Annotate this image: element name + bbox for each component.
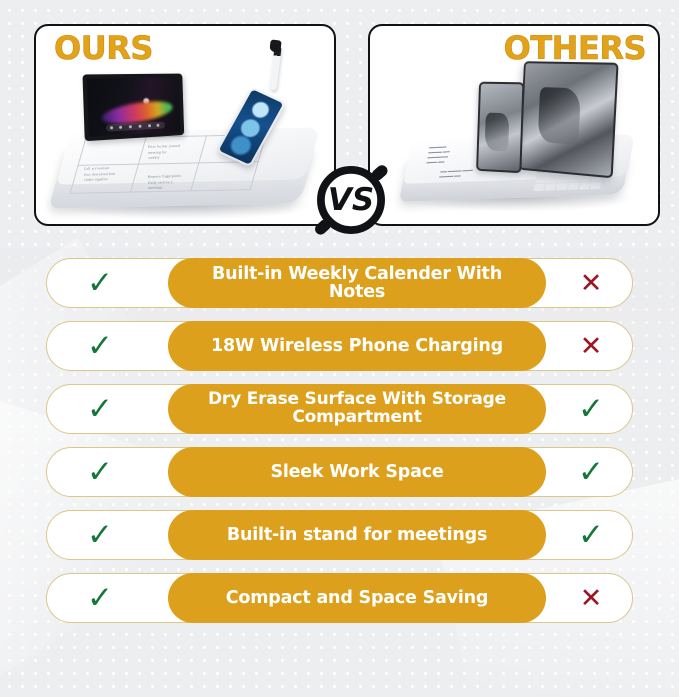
feature-row: ✓Dry Erase Surface With Storage Compartm… [0,384,679,434]
panel-others: OTHERS ▬▬▬▬▬ ▬▬▬▬ ▬▬ ▬▬▬▬▬▬ ▬▬▬ ▬▬ ▬▬ ▬▬… [368,24,660,226]
feature-row: ✓Sleek Work Space✓ [0,447,679,497]
feature-pill: Sleek Work Space [168,447,546,497]
feature-row: ✓Compact and Space Saving✕ [0,573,679,623]
feature-label: Sleek Work Space [270,463,443,481]
ours-check-icon: ✓ [70,447,130,497]
others-check-icon: ✓ [561,384,621,434]
ours-check-icon: ✓ [70,258,130,308]
vs-badge: VS [308,157,394,243]
feature-row: ✓18W Wireless Phone Charging✕ [0,321,679,371]
feature-label: Built-in stand for meetings [227,526,487,544]
ours-check-icon: ✓ [70,321,130,371]
feature-row: ✓Built-in stand for meetings✓ [0,510,679,560]
others-check-icon: ✓ [561,510,621,560]
ours-note-block-1: Call accountant Sort download font Order… [84,165,133,183]
feature-pill: 18W Wireless Phone Charging [168,321,546,371]
feature-pill: Built-in Weekly Calender With Notes [168,258,546,308]
panel-ours-title: OURS [54,32,153,64]
feature-pill: Built-in stand for meetings [168,510,546,560]
comparison-panels: OURS Call accountant Sort download font … [0,0,679,248]
ours-note-block-3: Remove fingerprints Daily section 2 meet… [148,173,201,191]
feature-comparison-list: ✓Built-in Weekly Calender With Notes✕✓18… [0,258,679,636]
others-handwriting-lines: ▬▬▬▬▬ ▬▬▬▬ ▬▬ ▬▬▬▬▬▬ ▬▬▬ ▬▬ [426,143,482,166]
ours-tablet-on-stand [82,74,184,142]
panel-ours: OURS Call accountant Sort download font … [34,24,336,226]
feature-label: 18W Wireless Phone Charging [211,337,503,355]
ours-tablet-screen [87,77,181,136]
vs-badge-label: VS [328,182,374,218]
comparison-infographic: OURS Call accountant Sort download font … [0,0,679,697]
others-check-icon: ✓ [561,447,621,497]
others-tablet-in-slot [519,61,619,178]
feature-row: ✓Built-in Weekly Calender With Notes✕ [0,258,679,308]
others-cross-icon: ✕ [561,573,621,623]
others-cross-icon: ✕ [561,258,621,308]
feature-label: Dry Erase Surface With Storage Compartme… [208,391,506,426]
others-phone-in-slot [476,82,524,174]
ours-check-icon: ✓ [70,573,130,623]
ours-check-icon: ✓ [70,384,130,434]
ours-note-block-2: Print format journal meeting for weekly [148,143,199,161]
feature-label: Built-in Weekly Calender With Notes [182,265,532,301]
feature-pill: Compact and Space Saving [168,573,546,623]
panel-others-title: OTHERS [504,32,646,64]
feature-pill: Dry Erase Surface With Storage Compartme… [168,384,546,434]
ours-tablet-dock [106,122,165,132]
feature-label: Compact and Space Saving [226,589,488,607]
ours-check-icon: ✓ [70,510,130,560]
others-cross-icon: ✕ [561,321,621,371]
ours-stylus [269,46,281,91]
